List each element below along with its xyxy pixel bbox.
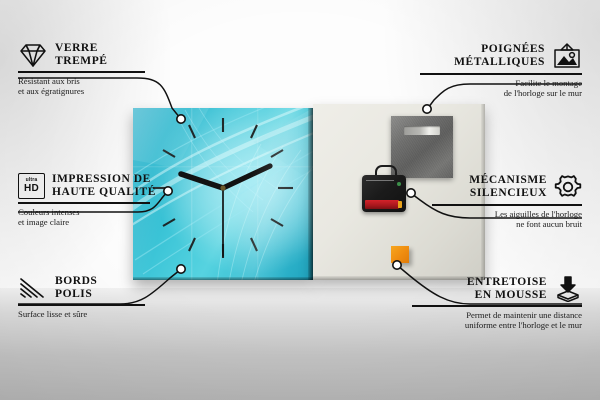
feature-desc-line: Permet de maintenir une distance	[412, 310, 582, 321]
hanger-slot	[404, 126, 440, 135]
feature-impression-haute-qualite: ultra HD IMPRESSION DE HAUTE QUALITÉ Cou…	[18, 173, 168, 228]
ultra-hd-icon-main: HD	[24, 184, 39, 194]
ultra-hd-icon: ultra HD	[18, 173, 45, 199]
picture-frame-hook-icon	[552, 42, 582, 70]
feature-mecanisme-silencieux: MÉCANISME SILENCIEUX Les aiguilles de l'…	[432, 173, 582, 230]
feature-title-2: TREMPÉ	[55, 55, 108, 68]
mechanism-indicator	[397, 182, 401, 186]
mechanism-body	[362, 175, 406, 212]
feature-entretoise-en-mousse: ENTRETOISE EN MOUSSE Permet de maintenir…	[412, 275, 582, 331]
feature-desc: Les aiguilles de l'horloge ne font aucun…	[432, 209, 582, 230]
feature-title: IMPRESSION DE	[52, 173, 156, 186]
feature-verre-trempe: VERRE TREMPÉ Résistant aux bris et aux é…	[18, 42, 163, 97]
battery	[365, 200, 399, 209]
feature-rule	[18, 202, 150, 204]
feature-title-2: HAUTE QUALITÉ	[52, 186, 156, 199]
feature-title: POIGNÉES	[454, 43, 545, 56]
feature-desc-line: et aux égratignures	[18, 86, 163, 97]
foam-spacer-arrow-icon	[554, 275, 582, 302]
feature-desc-line: ne font aucun bruit	[432, 219, 582, 230]
feature-rule	[420, 73, 582, 75]
feature-desc: Résistant aux bris et aux égratignures	[18, 76, 163, 97]
feature-rule	[18, 304, 145, 306]
feature-desc: Permet de maintenir une distance uniform…	[412, 310, 582, 331]
feature-rule	[432, 204, 582, 206]
feature-poignees-metalliques: POIGNÉES MÉTALLIQUES Facilite le montage…	[420, 42, 582, 99]
feature-bords-polis: BORDS POLIS Surface lisse et sûre	[18, 275, 163, 319]
feature-rule	[18, 71, 145, 73]
feature-title-2: MÉTALLIQUES	[454, 56, 545, 69]
feature-desc-line: Couleurs intenses	[18, 207, 168, 218]
mechanism-label	[366, 180, 394, 183]
feature-title: MÉCANISME	[469, 174, 547, 187]
feature-desc: Couleurs intenses et image claire	[18, 207, 168, 228]
diamond-icon	[18, 42, 48, 68]
gear-icon	[554, 173, 582, 201]
feature-title: ENTRETOISE	[467, 276, 547, 289]
feature-title-2: EN MOUSSE	[467, 289, 547, 302]
feature-desc-line: Les aiguilles de l'horloge	[432, 209, 582, 220]
feature-desc-line: de l'horloge sur le mur	[420, 88, 582, 99]
feature-desc-line: Surface lisse et sûre	[18, 309, 163, 320]
metal-hanger-plate	[391, 116, 453, 178]
clock-mechanism	[362, 172, 406, 212]
feature-title: VERRE	[55, 42, 108, 55]
feature-rule	[412, 305, 582, 307]
foam-spacer	[391, 246, 409, 263]
feature-title-2: SILENCIEUX	[469, 187, 547, 200]
feature-desc: Surface lisse et sûre	[18, 309, 163, 320]
feature-desc-line: Facilite le montage	[420, 78, 582, 89]
polished-edge-icon	[18, 276, 48, 300]
feature-desc-line: et image claire	[18, 217, 168, 228]
feature-title-2: POLIS	[55, 288, 97, 301]
infographic-canvas: VERRE TREMPÉ Résistant aux bris et aux é…	[0, 0, 600, 400]
feature-desc-line: uniforme entre l'horloge et le mur	[412, 320, 582, 331]
feature-desc-line: Résistant aux bris	[18, 76, 163, 87]
feature-desc: Facilite le montage de l'horloge sur le …	[420, 78, 582, 99]
feature-title: BORDS	[55, 275, 97, 288]
